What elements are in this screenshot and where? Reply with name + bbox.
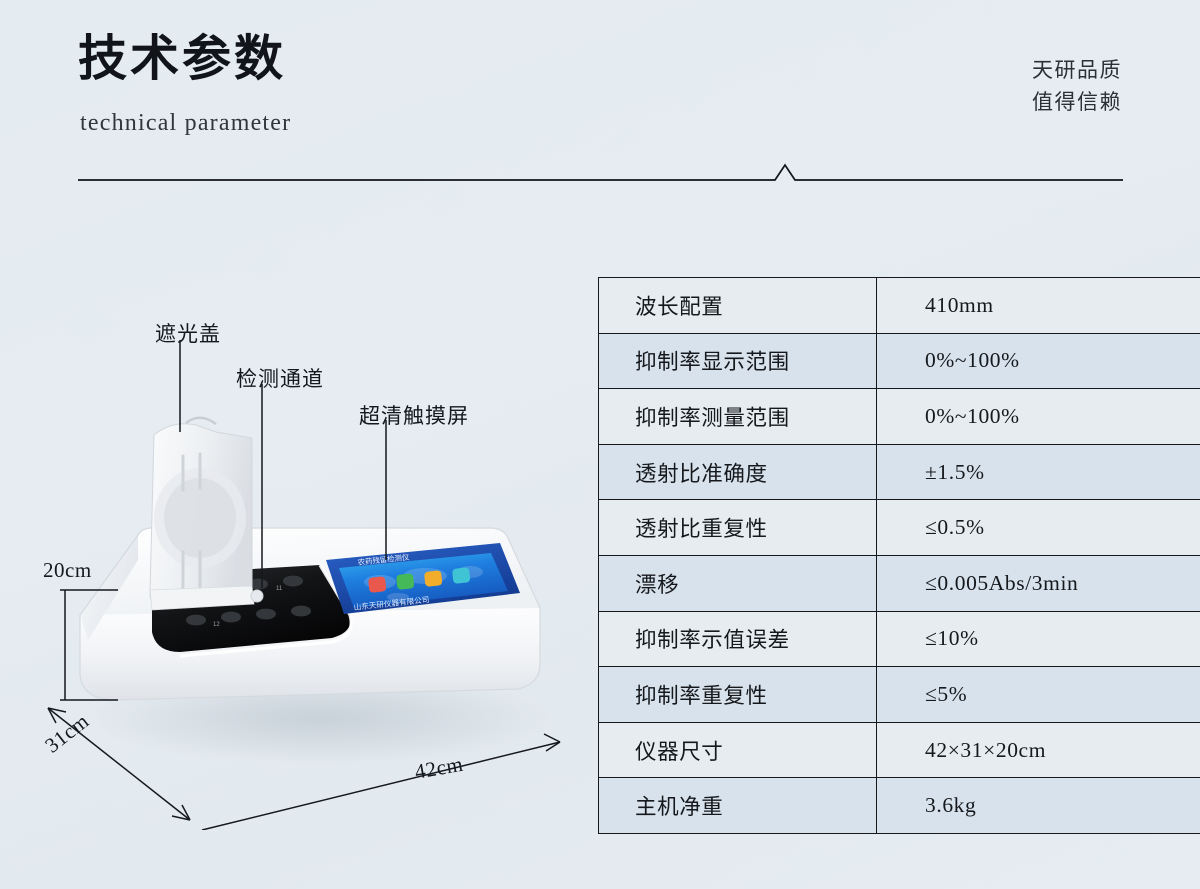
spec-value: ≤5% [877, 667, 1200, 723]
spec-key: 抑制率重复性 [599, 667, 877, 723]
spec-key: 仪器尺寸 [599, 722, 877, 778]
header-divider [78, 158, 1123, 184]
spec-key: 主机净重 [599, 778, 877, 834]
specification-table: 波长配置410mm抑制率显示范围0%~100%抑制率测量范围0%~100%透射比… [598, 277, 1200, 834]
spec-key: 波长配置 [599, 278, 877, 334]
spec-row: 波长配置410mm [599, 278, 1200, 334]
spec-value: ≤0.5% [877, 500, 1200, 556]
spec-row: 抑制率示值误差≤10% [599, 611, 1200, 667]
product-illustration: 9 10 11 12 农药残留检测仪 [20, 260, 600, 830]
spec-key: 透射比准确度 [599, 444, 877, 500]
spec-key: 抑制率测量范围 [599, 389, 877, 445]
page-title: 技术参数 [78, 32, 286, 87]
spec-value: 410mm [877, 278, 1200, 334]
light-shield-cover [150, 418, 263, 610]
page-subtitle: technical parameter [80, 110, 291, 137]
spec-value: ≤10% [877, 611, 1200, 667]
specification-table-body: 波长配置410mm抑制率显示范围0%~100%抑制率测量范围0%~100%透射比… [599, 278, 1200, 834]
spec-key: 漂移 [599, 555, 877, 611]
slogan-line-2: 值得信赖 [1032, 87, 1122, 119]
spec-key: 抑制率显示范围 [599, 333, 877, 389]
spec-value: ≤0.005Abs/3min [877, 555, 1200, 611]
spec-value: 0%~100% [877, 333, 1200, 389]
svg-text:11: 11 [276, 586, 283, 592]
spec-value: ±1.5% [877, 444, 1200, 500]
page-header: 技术参数 technical parameter 天研品质 值得信赖 [0, 0, 1200, 200]
spec-row: 透射比准确度±1.5% [599, 444, 1200, 500]
spec-value: 42×31×20cm [877, 722, 1200, 778]
spec-row: 抑制率测量范围0%~100% [599, 389, 1200, 445]
peak-chevron-divider-icon [78, 165, 1123, 180]
spec-key: 抑制率示值误差 [599, 611, 877, 667]
spec-row: 主机净重3.6kg [599, 778, 1200, 834]
brand-slogan: 天研品质 值得信赖 [1032, 55, 1122, 119]
spec-value: 0%~100% [877, 389, 1200, 445]
spec-row: 抑制率显示范围0%~100% [599, 333, 1200, 389]
dimension-label-height: 20cm [43, 558, 92, 583]
callout-light-shield-cover: 遮光盖 [155, 318, 221, 348]
spec-row: 漂移≤0.005Abs/3min [599, 555, 1200, 611]
spec-row: 透射比重复性≤0.5% [599, 500, 1200, 556]
svg-text:12: 12 [213, 622, 220, 628]
callout-touchscreen: 超清触摸屏 [359, 400, 469, 430]
spec-key: 透射比重复性 [599, 500, 877, 556]
slogan-line-1: 天研品质 [1032, 55, 1122, 87]
callout-detection-channel: 检测通道 [236, 363, 324, 393]
spec-value: 3.6kg [877, 778, 1200, 834]
spec-row: 仪器尺寸42×31×20cm [599, 722, 1200, 778]
spec-row: 抑制率重复性≤5% [599, 667, 1200, 723]
